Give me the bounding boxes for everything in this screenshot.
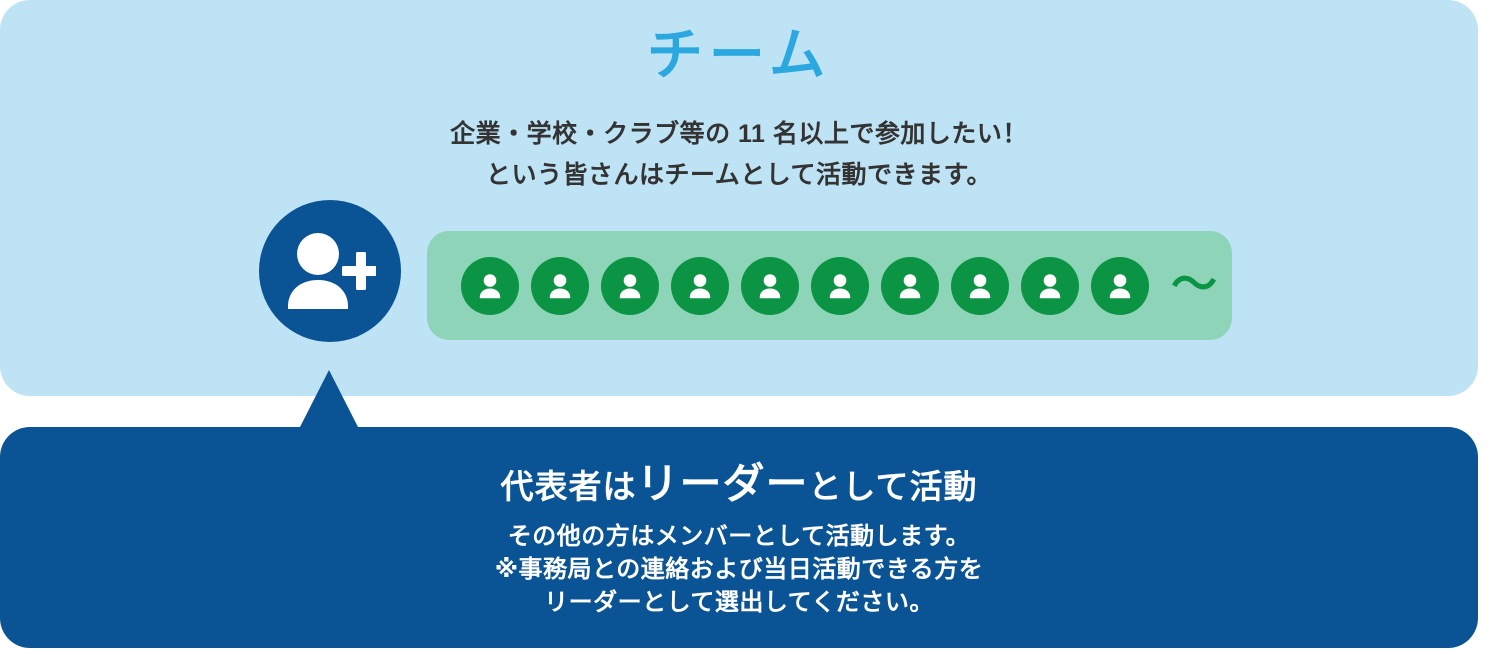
member-avatar (531, 257, 589, 315)
person-icon (685, 271, 715, 301)
person-icon (615, 271, 645, 301)
person-icon (1035, 271, 1065, 301)
person-icon (475, 271, 505, 301)
person-icon (545, 271, 575, 301)
person-add-icon (284, 232, 376, 310)
leader-body: その他の方はメンバーとして活動します。 ※事務局との連絡および当日活動できる方を… (0, 520, 1478, 619)
member-avatar (741, 257, 799, 315)
team-subtitle-line-2: という皆さんはチームとして活動できます。 (0, 155, 1478, 196)
leader-heading-suffix: として活動 (809, 468, 978, 505)
member-avatar (671, 257, 729, 315)
person-icon (1105, 271, 1135, 301)
leader-heading-prefix: 代表者は (500, 468, 636, 505)
up-triangle-icon (295, 366, 365, 430)
leader-panel: 代表者はリーダーとして活動 その他の方はメンバーとして活動します。 ※事務局との… (0, 427, 1478, 648)
person-add-badge (259, 200, 401, 342)
leader-body-line-3: リーダーとして選出してください。 (0, 586, 1478, 619)
person-icon (755, 271, 785, 301)
infographic-root: チーム 企業・学校・クラブ等の 11 名以上で参加したい！ という皆さんはチーム… (0, 0, 1491, 655)
person-icon (895, 271, 925, 301)
page-title: チーム (0, 24, 1478, 86)
team-subtitle: 企業・学校・クラブ等の 11 名以上で参加したい！ という皆さんはチームとして活… (0, 114, 1478, 195)
leader-body-line-1: その他の方はメンバーとして活動します。 (0, 520, 1478, 553)
leader-heading: 代表者はリーダーとして活動 (0, 459, 1478, 509)
team-subtitle-line-1: 企業・学校・クラブ等の 11 名以上で参加したい！ (0, 114, 1478, 155)
team-panel: チーム 企業・学校・クラブ等の 11 名以上で参加したい！ という皆さんはチーム… (0, 0, 1478, 396)
member-list-pill: 〜 (427, 231, 1232, 340)
member-avatar (811, 257, 869, 315)
member-avatar (601, 257, 659, 315)
member-avatar (1091, 257, 1149, 315)
leader-heading-emphasis: リーダー (636, 460, 808, 507)
member-more-symbol: 〜 (1171, 261, 1217, 307)
leader-body-line-2: ※事務局との連絡および当日活動できる方を (0, 553, 1478, 586)
member-avatar (1021, 257, 1079, 315)
person-icon (965, 271, 995, 301)
member-avatar (461, 257, 519, 315)
member-avatar (951, 257, 1009, 315)
person-icon (825, 271, 855, 301)
member-avatar (881, 257, 939, 315)
